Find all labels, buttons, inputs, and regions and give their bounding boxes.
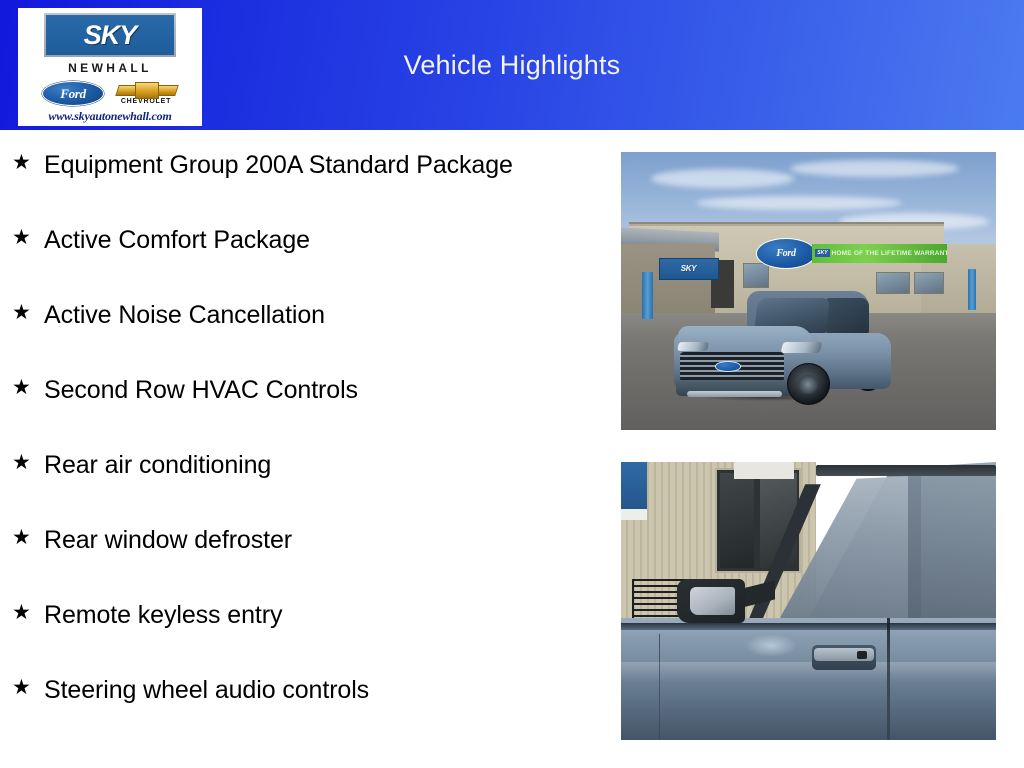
ford-sign-text: Ford — [776, 248, 795, 259]
ford-oval-icon: Ford — [42, 81, 104, 106]
keyhole-icon — [857, 651, 866, 659]
dealer-website-text[interactable]: www.skyautonewhall.com — [48, 110, 171, 122]
cloud — [790, 160, 959, 177]
canopy-post — [642, 272, 653, 319]
vehicle-photo-front[interactable]: SKY Ford SKY HOME OF THE LIFETIME WARRAN… — [621, 152, 996, 430]
sky-brand-text: SKY — [84, 22, 137, 49]
star-icon: ★ — [12, 598, 44, 628]
b-pillar — [908, 468, 921, 624]
body-reflection — [745, 634, 798, 656]
sky-dealer-sign: SKY — [659, 258, 719, 280]
ford-oval-sign: Ford — [756, 238, 816, 269]
dealer-location-text: NEWHALL — [68, 62, 152, 74]
headlight-right — [781, 342, 823, 353]
franchise-logos: Ford CHEVROLET — [18, 79, 202, 107]
side-mirror-glass — [690, 587, 735, 615]
star-icon: ★ — [12, 223, 44, 253]
list-item: ★ Steering wheel audio controls — [0, 673, 600, 748]
list-item: ★ Equipment Group 200A Standard Package — [0, 148, 600, 223]
highlight-label: Remote keyless entry — [44, 598, 282, 632]
door-panel-gap — [887, 618, 889, 740]
banner-badge: SKY — [815, 249, 829, 257]
warranty-banner: SKY HOME OF THE LIFETIME WARRANTY — [812, 244, 947, 263]
skid-plate — [687, 391, 783, 397]
vehicle-highlights-list: ★ Equipment Group 200A Standard Package … — [0, 148, 600, 748]
wheel-hub — [798, 375, 818, 394]
chevrolet-wordmark: CHEVROLET — [121, 98, 171, 105]
list-item: ★ Active Comfort Package — [0, 223, 600, 298]
slide-root: Vehicle Highlights SKY NEWHALL Ford CHEV… — [0, 0, 1024, 768]
photo-content-front: SKY Ford SKY HOME OF THE LIFETIME WARRAN… — [621, 152, 996, 430]
banner-text: HOME OF THE LIFETIME WARRANTY — [832, 250, 948, 257]
highlight-label: Second Row HVAC Controls — [44, 373, 358, 407]
highlight-label: Equipment Group 200A Standard Package — [44, 148, 513, 182]
star-icon: ★ — [12, 523, 44, 553]
suv-vehicle — [674, 291, 892, 408]
fender-panel-gap — [659, 634, 661, 740]
door-sign-paper — [734, 462, 794, 479]
star-icon: ★ — [12, 673, 44, 703]
building-white-trim — [621, 509, 647, 520]
side-window — [826, 298, 870, 333]
highlight-label: Steering wheel audio controls — [44, 673, 369, 707]
building-window — [743, 263, 769, 288]
list-item: ★ Second Row HVAC Controls — [0, 373, 600, 448]
star-icon: ★ — [12, 298, 44, 328]
body-crease-highlight — [621, 662, 996, 690]
list-item: ★ Remote keyless entry — [0, 598, 600, 673]
highlight-label: Active Comfort Package — [44, 223, 310, 257]
list-item: ★ Rear air conditioning — [0, 448, 600, 523]
cloud — [651, 169, 794, 188]
building-door-glass — [720, 473, 754, 568]
chevrolet-bowtie-icon — [117, 82, 175, 97]
vehicle-photo-mirror-detail[interactable] — [621, 462, 996, 740]
sky-logo-inner: SKY — [46, 15, 174, 55]
list-item: ★ Rear window defroster — [0, 523, 600, 598]
dealer-logo[interactable]: SKY NEWHALL Ford CHEVROLET www.skyautone… — [18, 8, 202, 126]
photo-content-mirror — [621, 462, 996, 740]
ford-grille-badge-icon — [715, 361, 741, 372]
sky-sign-text: SKY — [681, 264, 697, 273]
highlight-label: Rear air conditioning — [44, 448, 271, 482]
roof-trim — [816, 465, 996, 476]
ford-wordmark: Ford — [60, 87, 86, 100]
chevrolet-logo: CHEVROLET — [114, 80, 178, 107]
highlight-label: Rear window defroster — [44, 523, 292, 557]
building-blue-trim — [621, 462, 647, 509]
building-window — [914, 272, 944, 294]
star-icon: ★ — [12, 373, 44, 403]
sky-logo-plate: SKY — [44, 13, 176, 57]
star-icon: ★ — [12, 148, 44, 178]
canopy-post — [968, 269, 976, 311]
headlight-left — [677, 342, 709, 351]
rear-door-glass — [921, 468, 996, 624]
list-item: ★ Active Noise Cancellation — [0, 298, 600, 373]
beltline-molding — [621, 623, 996, 630]
highlight-label: Active Noise Cancellation — [44, 298, 325, 332]
star-icon: ★ — [12, 448, 44, 478]
